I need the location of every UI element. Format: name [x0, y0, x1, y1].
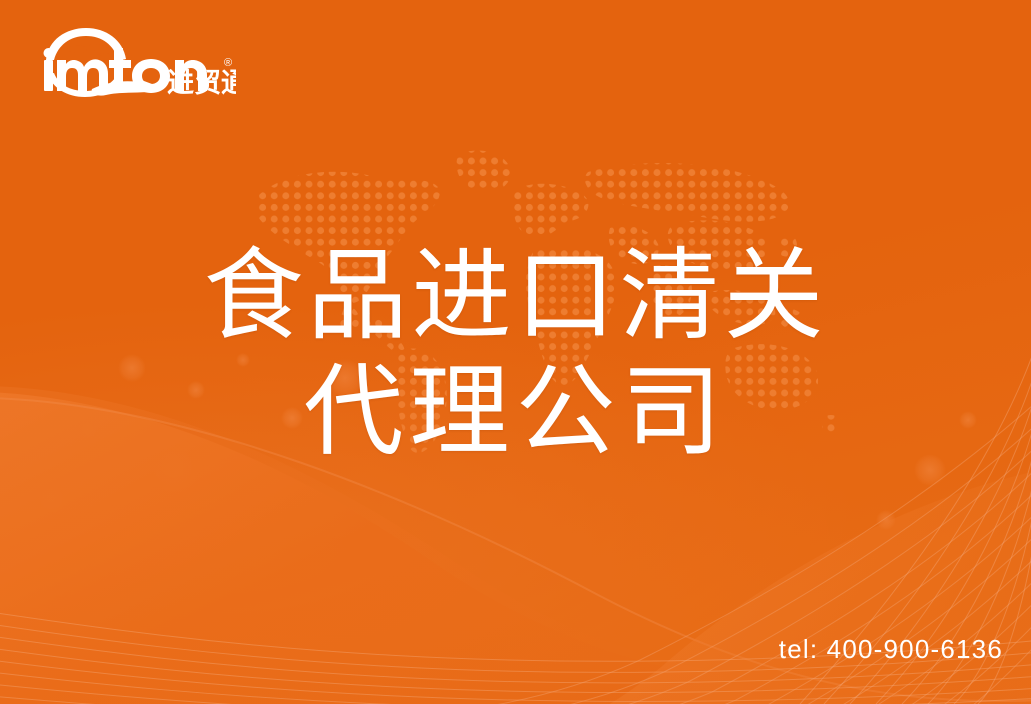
- promo-banner: 进贸通 ® 食品进口清关 代理公司 tel: 400-900-6136: [0, 0, 1031, 704]
- trademark-icon: ®: [224, 57, 232, 69]
- world-continents-icon: [67, 44, 110, 60]
- headline: 食品进口清关 代理公司: [0, 238, 1031, 470]
- imton-logo[interactable]: 进贸通 ®: [36, 26, 236, 102]
- logo-chinese-name: 进贸通: [167, 68, 236, 98]
- contact-phone: tel: 400-900-6136: [779, 634, 1003, 665]
- headline-line-2: 代理公司: [0, 354, 1031, 470]
- headline-line-1: 食品进口清关: [0, 238, 1031, 354]
